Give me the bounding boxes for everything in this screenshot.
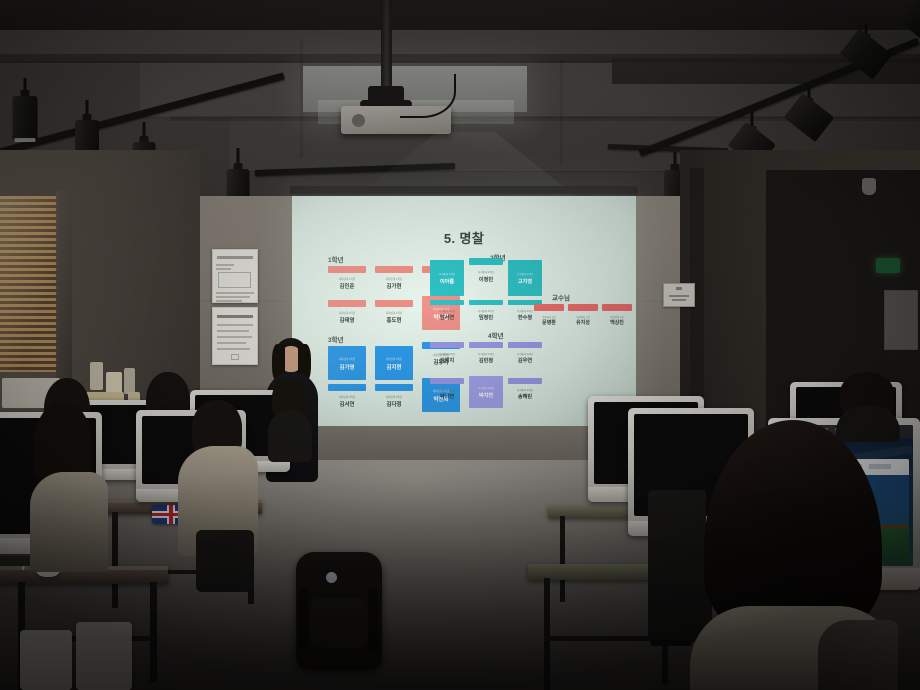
name-card: 디자인과 교수 문병환 [534, 304, 564, 330]
card-color-bar [430, 300, 464, 305]
card-name: 박지연 [469, 392, 503, 399]
exit-sign [876, 258, 900, 273]
card-name: 임서연 [430, 314, 464, 321]
card-name: 김태영 [328, 316, 366, 324]
card-role: 디자인과 3학년 [375, 395, 413, 399]
name-card: 디자인과 1학년 김태영 [328, 300, 366, 328]
card-name: 백상진 [602, 319, 632, 326]
card-color-bar [430, 378, 464, 384]
group-label-professors: 교수님 [552, 292, 570, 302]
card-role: 디자인과 1학년 [328, 311, 366, 315]
group-label-grade1: 1학년 [328, 254, 344, 264]
card-name: 김가영 [328, 363, 366, 371]
card-name: 김가현 [375, 282, 413, 290]
card-name: 박나연 [430, 393, 464, 400]
student-back-3 [268, 378, 312, 462]
card-name: 이정민 [469, 276, 503, 283]
name-card: 디자인과 1학년 김가현 [375, 266, 413, 294]
name-card: 디자인과 2학년 이정민 [469, 258, 503, 294]
card-role: 디자인과 3학년 [328, 395, 366, 399]
tote-bag-2 [76, 622, 132, 690]
projector-lens [352, 114, 365, 127]
name-card: 디자인과 4학년 박지연 [469, 376, 503, 408]
track-light-9 [898, 0, 920, 40]
card-name: 문병환 [534, 319, 564, 326]
card-role: 디자인과 4학년 [430, 388, 464, 392]
card-color-bar [328, 300, 366, 307]
card-color-bar [534, 304, 564, 311]
card-color-bar [328, 266, 366, 273]
card-name: 김예지 [430, 357, 464, 364]
name-card: 디자인과 교수 백상진 [602, 304, 632, 330]
card-role: 디자인과 4학년 [508, 388, 542, 392]
name-card: 디자인과 1학년 김민준 [328, 266, 366, 294]
card-color-bar [430, 342, 464, 348]
name-card: 디자인과 4학년 김우연 [508, 342, 542, 370]
card-name: 김민정 [469, 357, 503, 364]
card-role: 디자인과 3학년 [328, 357, 366, 361]
track-light-7 [786, 86, 832, 144]
card-name: 김민준 [328, 282, 366, 290]
classroom-photo: 5. 명찰 1학년 2학년 3학년 4학년 교수님 디자인과 1학년 김민준 디… [0, 0, 920, 690]
student-torso [30, 472, 108, 572]
card-role: 디자인과 2학년 [430, 309, 464, 313]
card-role: 디자인과 1학년 [375, 311, 413, 315]
card-name: 송혜린 [508, 393, 542, 400]
card-color-bar [568, 304, 598, 311]
track-light-8 [842, 24, 890, 82]
screen-housing [290, 186, 638, 194]
card-role: 디자인과 1학년 [328, 277, 366, 281]
card-color-bar [469, 300, 503, 305]
card-color-bar [375, 266, 413, 273]
card-name: 김서연 [328, 400, 366, 408]
window-reveal [56, 190, 72, 378]
card-role: 디자인과 3학년 [375, 357, 413, 361]
name-card: 디자인과 4학년 송혜린 [508, 378, 542, 406]
name-card: 디자인과 1학년 홍도현 [375, 300, 413, 328]
wall-poster-top [212, 249, 258, 303]
card-role: 디자인과 4학년 [469, 386, 503, 390]
name-card: 디자인과 3학년 김서연 [328, 384, 366, 412]
wall-poster-bottom [212, 307, 258, 365]
name-card: 디자인과 2학년 임서연 [430, 300, 464, 326]
name-card: 디자인과 2학년 임정민 [469, 300, 503, 326]
framed-wall-sign [663, 283, 695, 307]
right-notice-board [884, 290, 918, 350]
student-hair-long [704, 420, 882, 636]
student-front-right [690, 420, 898, 690]
card-role: 디자인과 2학년 [430, 272, 464, 276]
card-role: 디자인과 4학년 [469, 352, 503, 356]
projector-pole [381, 0, 392, 92]
card-role: 디자인과 4학년 [430, 352, 464, 356]
card-color-bar [328, 384, 366, 391]
chair-center[interactable] [196, 530, 254, 592]
name-card: 디자인과 교수 유지성 [568, 304, 598, 330]
card-color-bar [375, 300, 413, 307]
card-color-bar [508, 378, 542, 384]
card-name: 유지성 [568, 319, 598, 326]
card-color-bar [375, 384, 413, 391]
student-back-right [836, 372, 900, 442]
card-name: 김우연 [508, 357, 542, 364]
slide-title: 5. 명찰 [292, 228, 636, 247]
name-card: 디자인과 2학년 고지영 [508, 260, 542, 296]
wall-speaker [862, 178, 876, 195]
card-name: 임정민 [469, 314, 503, 321]
card-color-bar [469, 342, 503, 348]
tote-bag [20, 630, 72, 690]
name-card: 디자인과 4학년 김예지 [430, 342, 464, 370]
backpack [296, 552, 382, 670]
card-name: 홍도현 [375, 316, 413, 324]
card-name: 김다정 [375, 400, 413, 408]
shelf-jar [124, 368, 135, 394]
track-light-1 [8, 78, 42, 142]
card-role: 디자인과 4학년 [508, 352, 542, 356]
card-role: 디자인과 2학년 [508, 272, 542, 276]
card-name: 이아름 [430, 278, 464, 285]
card-color-bar [602, 304, 632, 311]
card-name: 고지영 [508, 278, 542, 285]
name-card: 디자인과 3학년 김가영 [328, 346, 366, 380]
name-card: 디자인과 3학년 김다정 [375, 384, 413, 412]
card-color-bar [508, 342, 542, 348]
group-label-grade4: 4학년 [488, 330, 504, 340]
window [0, 196, 58, 372]
projection-screen: 5. 명찰 1학년 2학년 3학년 4학년 교수님 디자인과 1학년 김민준 디… [292, 196, 636, 426]
card-color-bar [469, 258, 503, 265]
student-front-left [30, 402, 108, 572]
card-role: 디자인과 1학년 [375, 277, 413, 281]
name-card: 디자인과 4학년 박나연 [430, 378, 464, 406]
card-role: 디자인과 2학년 [469, 270, 503, 274]
card-name: 김지현 [375, 363, 413, 371]
card-role: 디자인과 2학년 [469, 309, 503, 313]
name-card: 디자인과 4학년 김민정 [469, 342, 503, 370]
name-card: 디자인과 2학년 이아름 [430, 260, 464, 296]
window-daylight [0, 196, 58, 372]
group-label-grade3: 3학년 [328, 334, 344, 344]
name-card: 디자인과 3학년 김지현 [375, 346, 413, 380]
